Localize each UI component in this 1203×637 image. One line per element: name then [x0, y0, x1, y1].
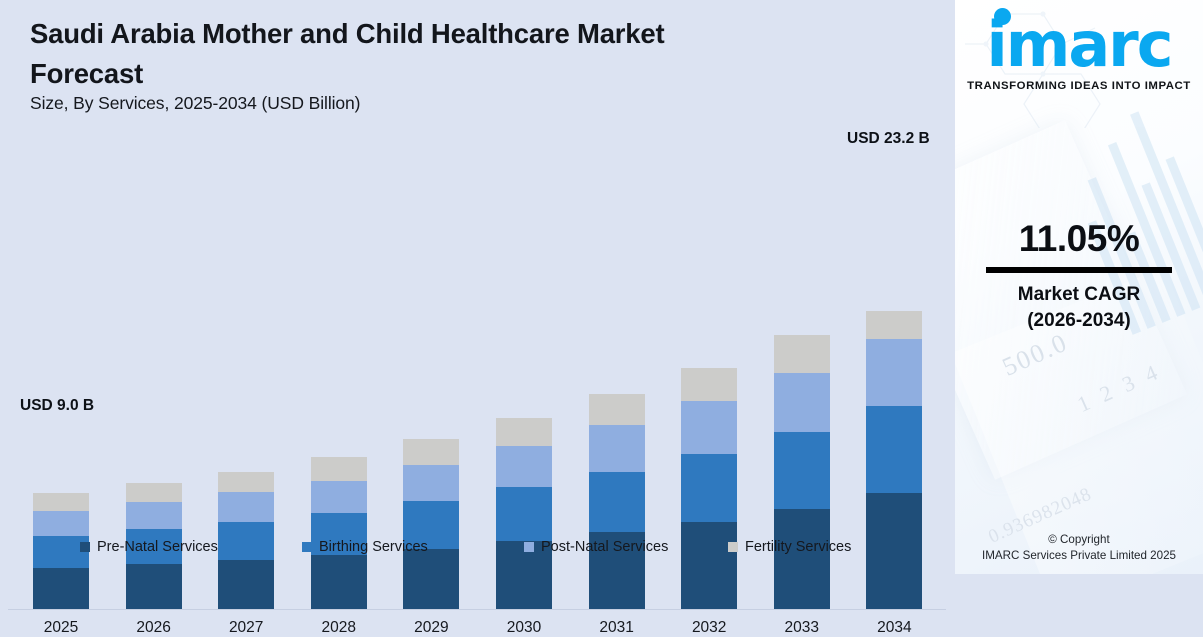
x-tick-label: 2026 — [109, 619, 199, 637]
copyright-line-2: IMARC Services Private Limited 2025 — [955, 548, 1203, 564]
bar-stack — [681, 367, 737, 609]
bar-segment — [866, 339, 922, 406]
bar-segment — [681, 454, 737, 522]
cagr-value: 11.05% — [955, 218, 1203, 260]
bar-segment — [126, 502, 182, 529]
copyright-line-1: © Copyright — [955, 532, 1203, 548]
legend-swatch — [728, 542, 738, 552]
bar-segment — [774, 335, 830, 372]
cagr-divider — [986, 267, 1172, 273]
bar-segment — [496, 446, 552, 487]
legend-item[interactable]: Post-Natal Services — [524, 539, 668, 555]
legend-item[interactable]: Fertility Services — [728, 539, 851, 555]
x-tick-label: 2027 — [201, 619, 291, 637]
legend-label: Birthing Services — [319, 539, 428, 555]
legend-label: Post-Natal Services — [541, 539, 668, 555]
bar-segment — [311, 457, 367, 480]
x-tick-label: 2030 — [479, 619, 569, 637]
watermark-digits-one: 500.0 — [998, 327, 1073, 382]
legend-swatch — [80, 542, 90, 552]
bar-segment — [866, 406, 922, 493]
x-tick-label: 2033 — [757, 619, 847, 637]
bar-segment — [126, 564, 182, 609]
logo-wordmark: imarc — [986, 12, 1171, 78]
bar-segment — [681, 401, 737, 454]
bar-segment — [403, 465, 459, 501]
cagr-period: (2026-2034) — [955, 308, 1203, 334]
legend-label: Fertility Services — [745, 539, 851, 555]
legend-label: Pre-Natal Services — [97, 539, 218, 555]
chart-panel: Saudi Arabia Mother and Child Healthcare… — [0, 0, 955, 574]
bar-segment — [311, 481, 367, 513]
watermark-digits-two: 1 2 3 4 — [1074, 358, 1165, 418]
bar-stack — [589, 394, 645, 609]
bar-segment — [496, 418, 552, 446]
bar-segment — [496, 487, 552, 541]
x-tick-label: 2025 — [16, 619, 106, 637]
bar-segment — [681, 368, 737, 401]
chart-page: Saudi Arabia Mother and Child Healthcare… — [0, 0, 1203, 574]
bar-segment — [589, 425, 645, 471]
cagr-label: Market CAGR — [955, 282, 1203, 308]
bar-stack — [866, 311, 922, 609]
legend-swatch — [302, 542, 312, 552]
bar-segment — [589, 472, 645, 532]
legend-item[interactable]: Pre-Natal Services — [80, 539, 218, 555]
x-tick-label: 2032 — [664, 619, 754, 637]
bar-segment — [866, 311, 922, 339]
x-tick-label: 2028 — [294, 619, 384, 637]
cagr-block: 11.05% Market CAGR (2026-2034) — [955, 218, 1203, 334]
copyright-notice: © Copyright IMARC Services Private Limit… — [955, 532, 1203, 564]
page-title: Saudi Arabia Mother and Child Healthcare… — [30, 14, 730, 94]
bar-segment — [403, 439, 459, 465]
bar-segment — [33, 568, 89, 609]
legend-item[interactable]: Birthing Services — [302, 539, 428, 555]
bar-segment — [218, 492, 274, 522]
bar-segment — [589, 394, 645, 425]
chart-subtitle: Size, By Services, 2025-2034 (USD Billio… — [30, 93, 360, 114]
bar-segment — [33, 493, 89, 511]
plot-area: 2025202620272028202920302031203220332034 — [0, 120, 955, 490]
bar-segment — [33, 511, 89, 535]
bar-segment — [774, 432, 830, 509]
imarc-logo: imarc TRANSFORMING IDEAS INTO IMPACT — [955, 12, 1203, 92]
bar-segment — [126, 483, 182, 502]
chart-legend: Pre-Natal ServicesBirthing ServicesPost-… — [0, 534, 955, 564]
legend-swatch — [524, 542, 534, 552]
x-tick-label: 2031 — [572, 619, 662, 637]
x-axis-line — [8, 609, 946, 610]
bar-segment — [774, 373, 830, 432]
bar-segment — [218, 472, 274, 493]
x-tick-label: 2029 — [386, 619, 476, 637]
bar-stack — [403, 439, 459, 609]
logo-wordmark-text: imarc — [986, 8, 1171, 81]
bar-stack — [774, 335, 830, 609]
x-tick-label: 2034 — [849, 619, 939, 637]
bar-segment — [218, 560, 274, 609]
bar-stack — [496, 418, 552, 609]
logo-tagline: TRANSFORMING IDEAS INTO IMPACT — [955, 80, 1203, 92]
brand-panel: 500.0 1 2 3 4 0.936982048 imarc TRANSFOR… — [955, 0, 1203, 574]
